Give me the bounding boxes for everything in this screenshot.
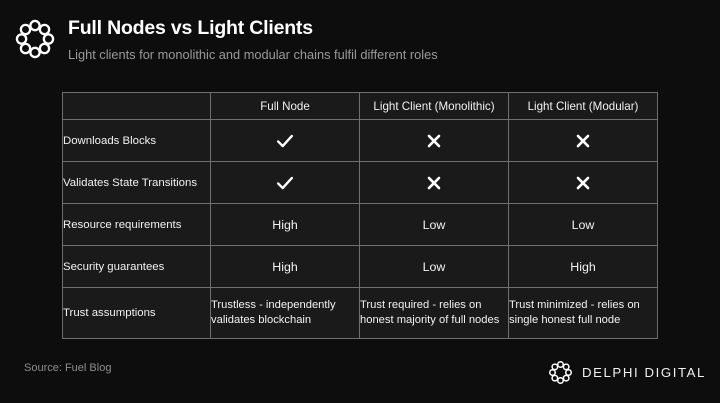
column-header-blank [63, 93, 211, 120]
delphi-wordmark: DELPHI DIGITAL [582, 365, 706, 380]
cross-icon [572, 130, 594, 152]
page-subtitle: Light clients for monolithic and modular… [68, 46, 438, 64]
table-header: Full Node Light Client (Monolithic) Ligh… [63, 93, 658, 120]
cross-icon [423, 172, 445, 194]
cell-resource-requirements-light-client-modular: Low [509, 204, 658, 246]
cell-security-guarantees-light-client-monolithic: Low [360, 246, 509, 288]
cell-trust-assumptions-light-client-modular: Trust minimized - relies on single hones… [509, 288, 658, 339]
table-body: Downloads Blocks [63, 120, 658, 339]
column-header-full-node: Full Node [211, 93, 360, 120]
cell-downloads-blocks-light-client-monolithic [360, 120, 509, 162]
cell-downloads-blocks-light-client-modular [509, 120, 658, 162]
infographic-card: Full Nodes vs Light Clients Light client… [0, 0, 720, 403]
header: Full Nodes vs Light Clients Light client… [14, 16, 438, 64]
delphi-ring-icon [14, 18, 56, 60]
comparison-table: Full Node Light Client (Monolithic) Ligh… [62, 92, 658, 339]
cell-validates-state-transitions-light-client-monolithic [360, 162, 509, 204]
cell-security-guarantees-full-node: High [211, 246, 360, 288]
cell-trust-assumptions-full-node: Trustless - independently validates bloc… [211, 288, 360, 339]
table-header-row: Full Node Light Client (Monolithic) Ligh… [63, 93, 658, 120]
row-label-downloads-blocks: Downloads Blocks [63, 120, 211, 162]
delphi-ring-icon [548, 360, 573, 385]
row-label-validates-state-transitions: Validates State Transitions [63, 162, 211, 204]
row-label-resource-requirements: Resource requirements [63, 204, 211, 246]
table-row: Trust assumptions Trustless - independen… [63, 288, 658, 339]
source-note: Source: Fuel Blog [24, 362, 111, 374]
cell-validates-state-transitions-full-node [211, 162, 360, 204]
page-title: Full Nodes vs Light Clients [68, 16, 438, 40]
column-header-light-client-modular: Light Client (Modular) [509, 93, 658, 120]
check-icon [274, 172, 296, 194]
column-header-light-client-monolithic: Light Client (Monolithic) [360, 93, 509, 120]
cell-resource-requirements-full-node: High [211, 204, 360, 246]
check-icon [274, 130, 296, 152]
cell-trust-assumptions-light-client-monolithic: Trust required - relies on honest majori… [360, 288, 509, 339]
table-row: Validates State Transitions [63, 162, 658, 204]
cross-icon [572, 172, 594, 194]
cross-icon [423, 130, 445, 152]
cell-downloads-blocks-full-node [211, 120, 360, 162]
delphi-digital-logo: DELPHI DIGITAL [548, 360, 706, 385]
cell-validates-state-transitions-light-client-modular [509, 162, 658, 204]
header-text-block: Full Nodes vs Light Clients Light client… [68, 16, 438, 64]
row-label-trust-assumptions: Trust assumptions [63, 288, 211, 339]
table-row: Resource requirements High Low Low [63, 204, 658, 246]
table-row: Security guarantees High Low High [63, 246, 658, 288]
cell-resource-requirements-light-client-monolithic: Low [360, 204, 509, 246]
row-label-security-guarantees: Security guarantees [63, 246, 211, 288]
cell-security-guarantees-light-client-modular: High [509, 246, 658, 288]
table-row: Downloads Blocks [63, 120, 658, 162]
